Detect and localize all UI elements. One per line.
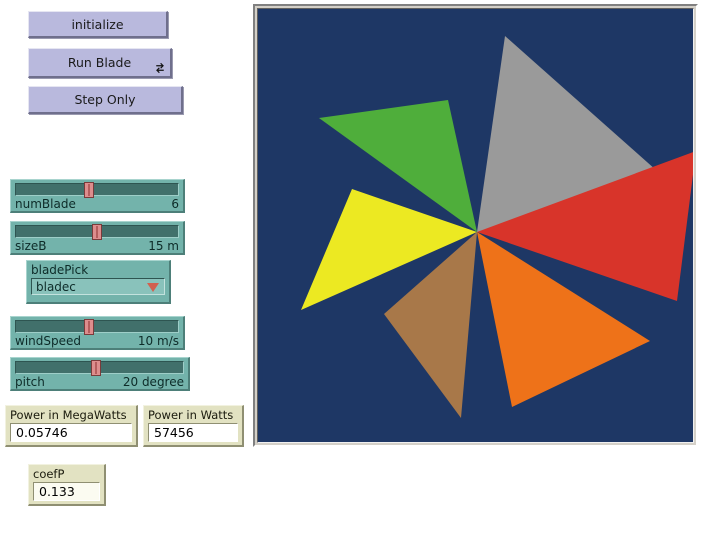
slider-thumb-numblade[interactable] xyxy=(84,182,94,198)
readout-title-power-watts: Power in Watts xyxy=(148,408,238,423)
chevron-down-icon[interactable] xyxy=(147,283,159,292)
slider-value-pitch: 20 degree xyxy=(123,375,184,389)
readout-value-power-watts[interactable]: 57456 xyxy=(148,423,238,442)
run-blade-button[interactable]: Run Blade xyxy=(28,48,172,78)
blade-pick-select[interactable]: bladec xyxy=(31,278,165,295)
initialize-button-label: initialize xyxy=(71,17,123,32)
cycle-icon[interactable] xyxy=(154,62,166,74)
run-blade-button-label: Run Blade xyxy=(68,55,131,70)
slider-widget-pitch: pitch20 degree xyxy=(10,357,190,391)
readout-title-power-megawatts: Power in MegaWatts xyxy=(10,408,132,423)
blade-pick-label: bladePick xyxy=(31,263,165,278)
slider-readout-row-sizeb: sizeB15 m xyxy=(15,239,179,253)
readout-power-megawatts: Power in MegaWatts0.05746 xyxy=(5,405,138,447)
blade-pick-selected-value: bladec xyxy=(36,280,76,294)
rotor-blades-svg xyxy=(258,9,694,443)
slider-label-windspeed: windSpeed xyxy=(15,334,81,348)
slider-thumb-sizeb[interactable] xyxy=(92,224,102,240)
slider-value-sizeb: 15 m xyxy=(148,239,179,253)
step-only-button-label: Step Only xyxy=(74,92,135,107)
slider-widget-numblade: numBlade6 xyxy=(10,179,185,213)
slider-widget-windspeed: windSpeed10 m/s xyxy=(10,316,185,350)
slider-widget-sizeb: sizeB15 m xyxy=(10,221,185,255)
slider-track-numblade[interactable] xyxy=(15,183,179,196)
slider-readout-row-numblade: numBlade6 xyxy=(15,197,179,211)
step-only-button[interactable]: Step Only xyxy=(28,86,183,114)
slider-track-windspeed[interactable] xyxy=(15,320,179,333)
slider-label-pitch: pitch xyxy=(15,375,45,389)
slider-value-windspeed: 10 m/s xyxy=(138,334,179,348)
readout-title-coefp: coefP xyxy=(33,467,100,482)
slider-label-numblade: numBlade xyxy=(15,197,76,211)
slider-readout-row-pitch: pitch20 degree xyxy=(15,375,184,389)
slider-track-sizeb[interactable] xyxy=(15,225,179,238)
readout-value-power-megawatts[interactable]: 0.05746 xyxy=(10,423,132,442)
slider-readout-row-windspeed: windSpeed10 m/s xyxy=(15,334,179,348)
slider-thumb-pitch[interactable] xyxy=(91,360,101,376)
initialize-button[interactable]: initialize xyxy=(28,11,168,38)
slider-value-numblade: 6 xyxy=(171,197,179,211)
blade-visualization-canvas[interactable] xyxy=(257,8,694,443)
readout-value-coefp[interactable]: 0.133 xyxy=(33,482,100,501)
slider-thumb-windspeed[interactable] xyxy=(84,319,94,335)
readout-power-watts: Power in Watts57456 xyxy=(143,405,244,447)
blade-visualization-panel xyxy=(253,4,698,447)
slider-label-sizeb: sizeB xyxy=(15,239,47,253)
readout-coefp: coefP0.133 xyxy=(28,464,106,506)
blade-pick-widget: bladePick bladec xyxy=(26,260,171,304)
slider-track-pitch[interactable] xyxy=(15,361,184,374)
